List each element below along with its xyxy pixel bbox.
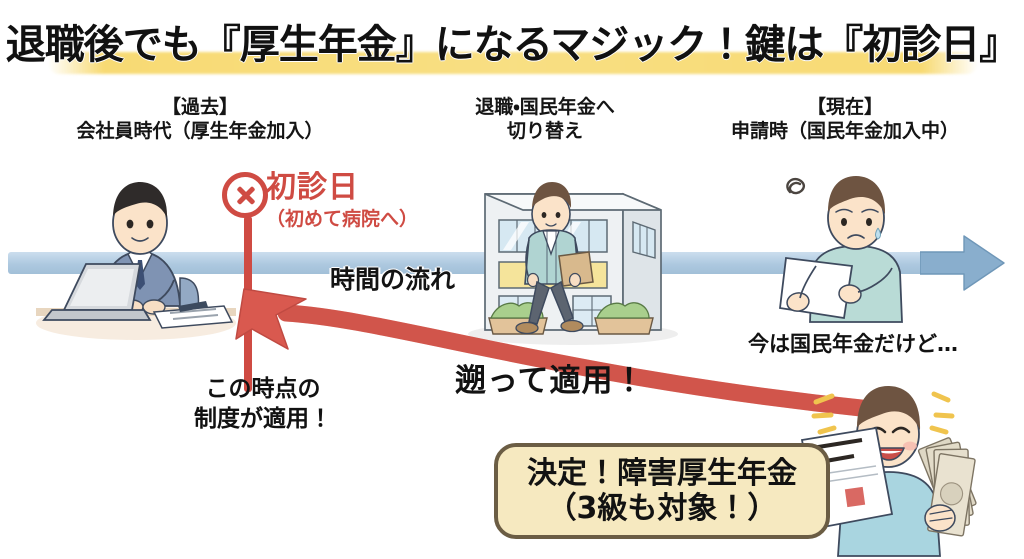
illustration-happy-recipient bbox=[800, 368, 1022, 558]
current-status-note: 今は国民年金だけど… bbox=[748, 328, 958, 358]
column-heading-past-line2: 会社員時代（厚生年金加入） bbox=[40, 120, 360, 144]
column-heading-now: 【現在】 申請時（国民年金加入中） bbox=[680, 96, 1010, 144]
apply-point-note: この時点の 制度が適用！ bbox=[178, 374, 348, 435]
result-line2: （3級も対象！） bbox=[547, 491, 778, 526]
retroactive-label: 遡って適用！ bbox=[455, 355, 645, 400]
result-line1: 決定！障害厚生年金 bbox=[527, 456, 797, 491]
infographic-canvas: 退職後でも『厚生年金』になるマジック！鍵は『初診日』 【過去】 会社員時代（厚生… bbox=[0, 0, 1024, 559]
column-heading-past-line1: 【過去】 bbox=[40, 96, 360, 120]
title-block: 退職後でも『厚生年金』になるマジック！鍵は『初診日』 bbox=[0, 12, 1024, 80]
column-heading-now-line2: 申請時（国民年金加入中） bbox=[680, 120, 1010, 144]
first-visit-date-sub: （初めて病院へ） bbox=[266, 208, 418, 231]
column-heading-middle: 退職・国民年金へ 切り替え bbox=[430, 96, 660, 144]
first-visit-date-label: 初診日 （初めて病院へ） bbox=[266, 170, 418, 231]
column-heading-middle-line1: 退職・国民年金へ bbox=[430, 96, 660, 120]
column-heading-middle-line2: 切り替え bbox=[430, 120, 660, 144]
apply-point-note-line2: 制度が適用！ bbox=[194, 406, 332, 432]
apply-point-note-line1: この時点の bbox=[206, 376, 321, 402]
column-heading-now-line1: 【現在】 bbox=[680, 96, 1010, 120]
x-circle-icon bbox=[222, 172, 268, 218]
illustration-office-worker bbox=[28, 160, 243, 345]
first-visit-date-main: 初診日 bbox=[266, 170, 418, 206]
result-box: 決定！障害厚生年金 （3級も対象！） bbox=[494, 443, 830, 539]
column-heading-past: 【過去】 会社員時代（厚生年金加入） bbox=[40, 96, 360, 144]
page-title: 退職後でも『厚生年金』になるマジック！鍵は『初診日』 bbox=[0, 12, 1024, 78]
